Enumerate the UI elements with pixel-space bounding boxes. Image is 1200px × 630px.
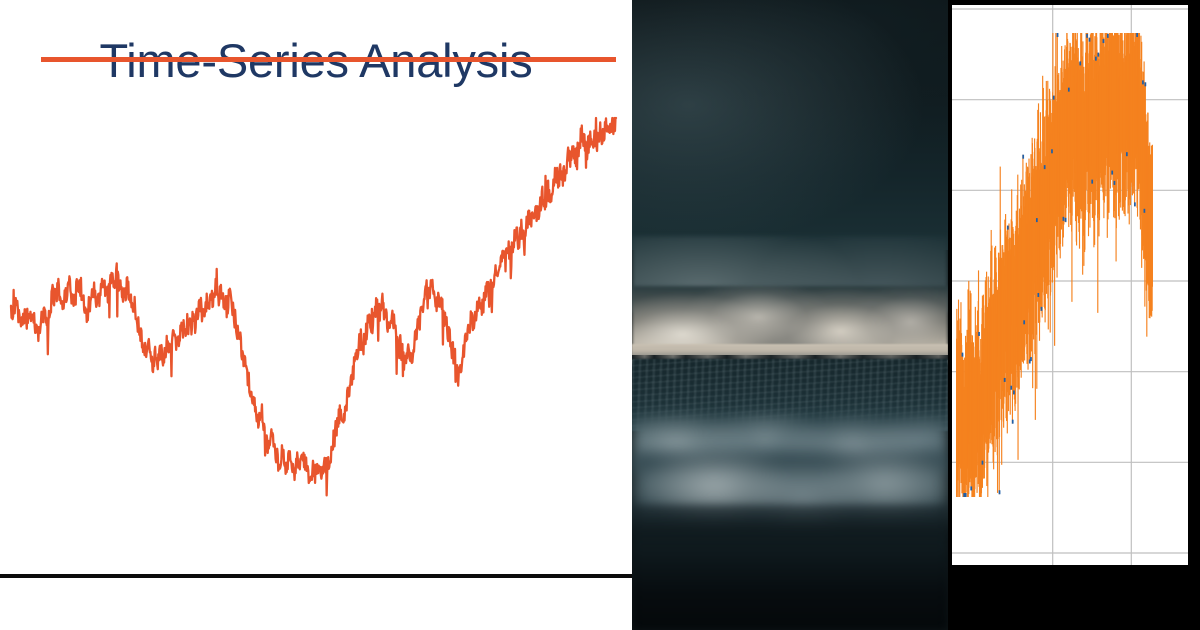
left-title-chart-panel: Time-Series Analysis <box>0 0 632 630</box>
ohlc-plot-area <box>952 5 1188 565</box>
ohlc-bars-series <box>956 33 1153 497</box>
ohlc-bar-tip <box>1036 218 1038 222</box>
ohlc-bar-tip <box>1136 33 1138 37</box>
ohlc-bar-tip <box>1013 390 1015 394</box>
ohlc-bar-tip <box>1145 82 1147 86</box>
ohlc-bar <box>1152 145 1153 287</box>
ohlc-bar-tip <box>1053 96 1055 100</box>
ohlc-bar-tip <box>1007 226 1009 230</box>
ohlc-bar-tip <box>1004 378 1006 382</box>
left-line-chart-series <box>11 118 616 495</box>
ohlc-bar-tip <box>1095 57 1097 61</box>
ohlc-bar-tip <box>1134 202 1136 206</box>
ohlc-chart <box>952 5 1188 565</box>
ohlc-bar-tip <box>1111 171 1113 175</box>
ohlc-bar-tip <box>1010 386 1012 390</box>
ohlc-bar-tip <box>962 353 964 357</box>
ohlc-bottom-black-band <box>948 565 1200 630</box>
ohlc-bar-tip <box>1044 165 1046 169</box>
ohlc-bar-tip <box>1063 217 1065 221</box>
ohlc-bar-tip <box>1041 307 1043 311</box>
ohlc-bar-tip <box>1068 88 1070 92</box>
ohlc-bar-tip <box>1089 38 1091 42</box>
bottom-divider-rule <box>0 574 632 578</box>
ohlc-bar-tip <box>1114 181 1116 185</box>
ohlc-bar-tip <box>999 490 1001 494</box>
slide-canvas: Time-Series Analysis <box>0 0 1200 630</box>
storm-seascape-photo <box>632 0 948 630</box>
ohlc-bar-tip <box>965 493 967 497</box>
ohlc-bar-tip <box>1091 180 1093 184</box>
ohlc-bar-tip <box>1037 293 1039 297</box>
ohlc-bar-tip <box>982 461 984 465</box>
ohlc-bar-tip <box>1030 357 1032 361</box>
ohlc-bar-tip <box>1142 80 1144 84</box>
ohlc-bar-tip <box>1065 218 1067 222</box>
photo-dark-foreground <box>632 505 948 630</box>
ohlc-bar-tip <box>970 486 972 490</box>
ohlc-bar-tip <box>1103 39 1105 43</box>
ohlc-bar-tip <box>1144 209 1146 213</box>
ohlc-bar-tip <box>1051 149 1053 153</box>
ohlc-bar-tip <box>1023 320 1025 324</box>
ohlc-bar-tip <box>1107 34 1109 38</box>
ohlc-bar-tip <box>978 332 980 336</box>
ohlc-bar-tip <box>1126 152 1128 156</box>
photo-dark-sky-layer <box>632 0 948 250</box>
ohlc-bar-tip <box>1012 420 1014 424</box>
ohlc-bar-tip <box>1079 61 1081 65</box>
ohlc-bar-tip <box>1097 53 1099 57</box>
right-ohlc-panel <box>948 0 1200 630</box>
ohlc-bar-tip <box>1086 34 1088 38</box>
ohlc-bar-tip <box>1022 155 1024 159</box>
ohlc-bar-tip <box>1057 33 1059 37</box>
left-line-chart <box>0 0 632 630</box>
